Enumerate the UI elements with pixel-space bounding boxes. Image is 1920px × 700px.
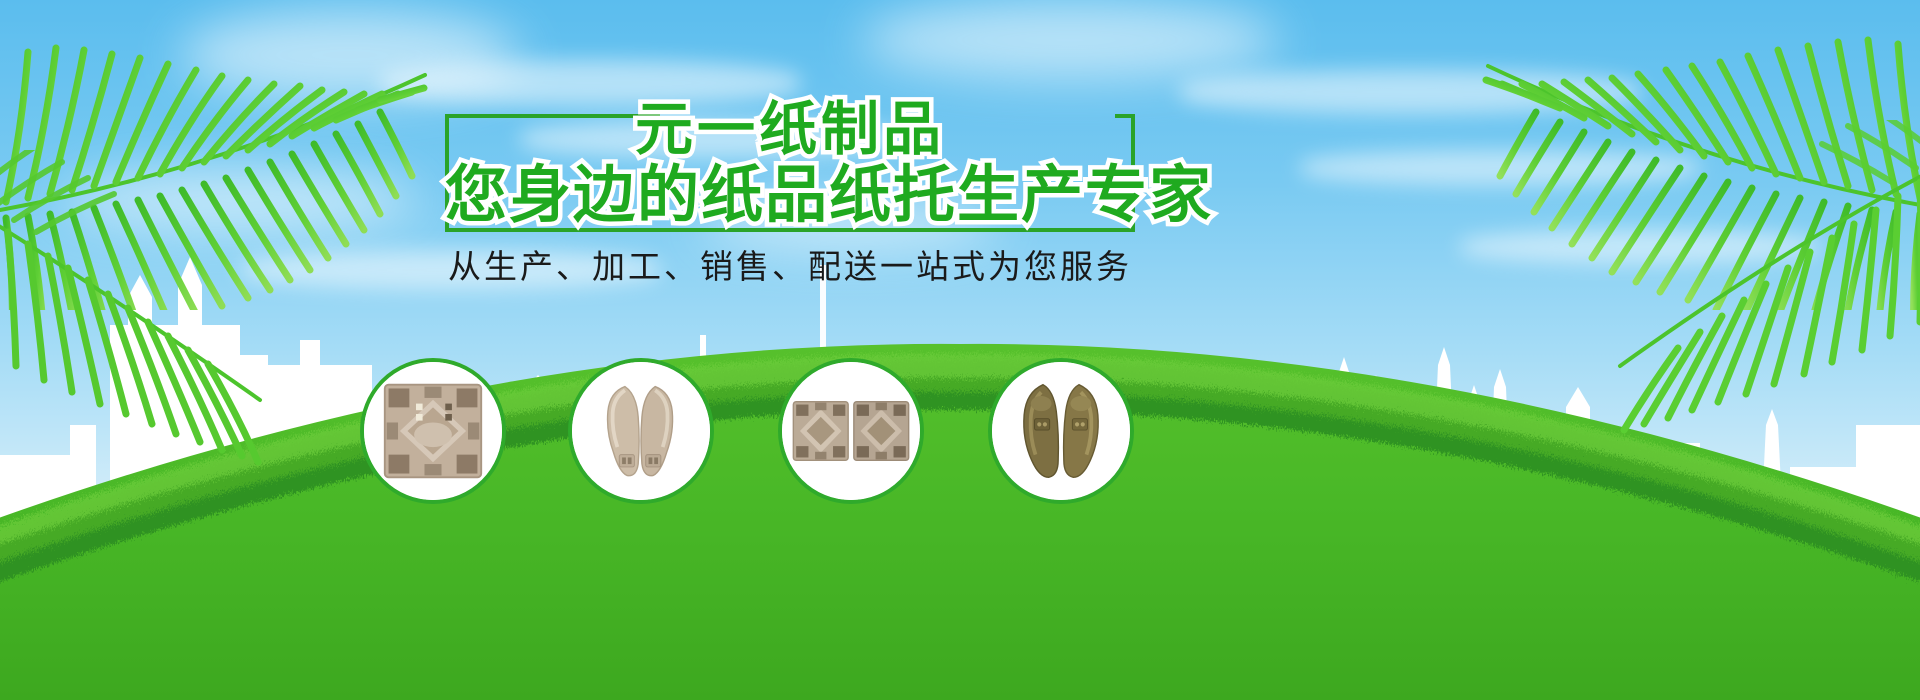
product-circle-molded-pulp-square-tray[interactable] bbox=[360, 358, 506, 504]
palm-frond-left-lower bbox=[0, 150, 270, 490]
promotional-banner: 元一纸制品 您身边的纸品纸托生产专家 从生产、加工、销售、配送一站式为您服务 bbox=[0, 0, 1920, 700]
headline-frame: 元一纸制品 您身边的纸品纸托生产专家 bbox=[445, 92, 1135, 232]
product-circle-molded-pulp-dark-shoe[interactable] bbox=[988, 358, 1134, 504]
headline-secondary: 您身边的纸品纸托生产专家 bbox=[445, 144, 1135, 234]
product-circle-molded-pulp-corner-pair[interactable] bbox=[778, 358, 924, 504]
product-circle-molded-pulp-shoe-inserts[interactable] bbox=[568, 358, 714, 504]
palm-frond-right bbox=[1430, 0, 1920, 310]
cloud-decoration bbox=[1460, 230, 1820, 264]
cloud-decoration bbox=[60, 170, 420, 230]
palm-frond-left bbox=[0, 0, 440, 310]
palm-frond-right-lower bbox=[1580, 120, 1920, 450]
cloud-decoration bbox=[860, 0, 1280, 80]
banner-subtitle: 从生产、加工、销售、配送一站式为您服务 bbox=[445, 240, 1135, 288]
green-hill-landscape bbox=[0, 300, 1920, 700]
cloud-decoration bbox=[1180, 70, 1640, 114]
molded-pulp-corner-pair-image bbox=[782, 362, 920, 500]
cloud-decoration bbox=[1300, 150, 1700, 186]
molded-pulp-square-tray-image bbox=[364, 362, 502, 500]
molded-pulp-dark-shoe-image bbox=[992, 362, 1130, 500]
molded-pulp-shoe-inserts-image bbox=[572, 362, 710, 500]
